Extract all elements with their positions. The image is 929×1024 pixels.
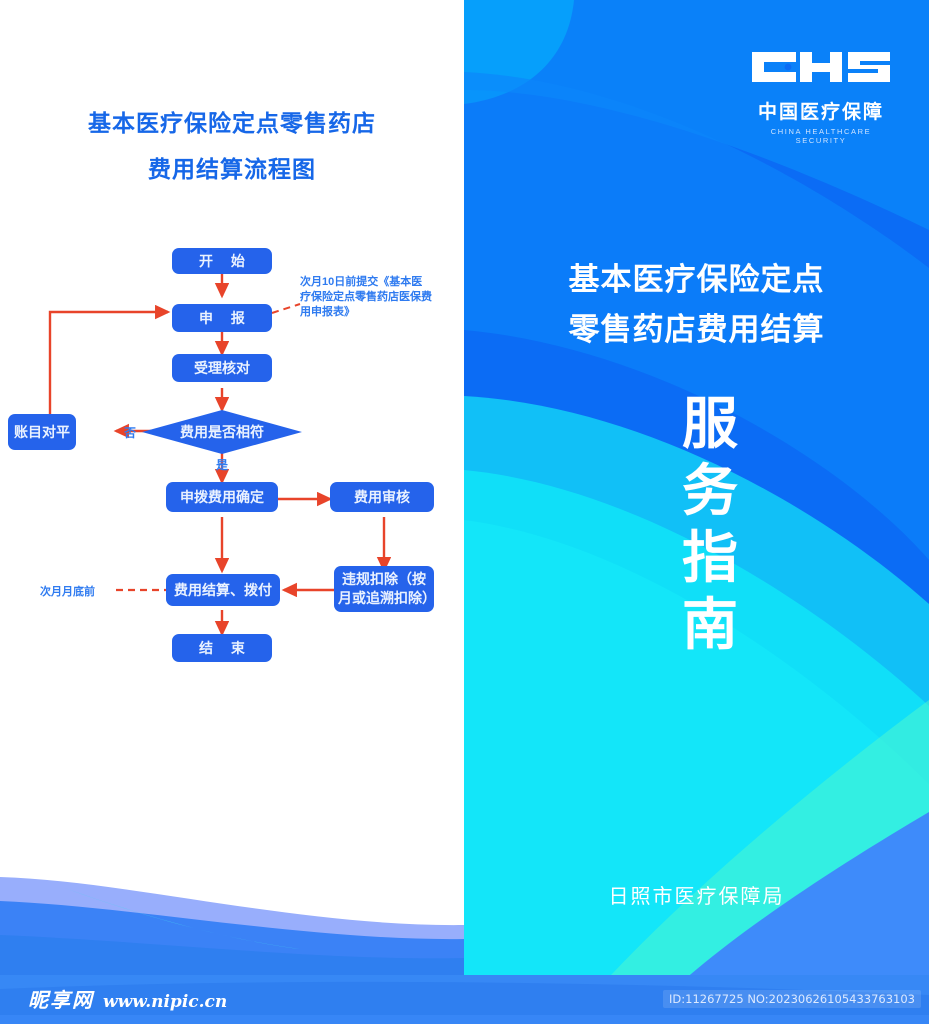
chs-logo-mark [746, 46, 896, 88]
organization-name: 日照市医疗保障局 [464, 880, 929, 909]
flowchart: 开 始 申 报 受理核对 费用是否相符 账目对平 申拨费用确定 费用审核 违规扣… [0, 230, 464, 680]
vertical-char-2: 务 [655, 457, 765, 524]
watermark-url: www.nipic.cn [103, 992, 227, 1012]
flow-node-end[interactable]: 结 束 [172, 634, 272, 662]
watermark-brand: 昵享网 [28, 984, 94, 1013]
chs-logo: 中国医疗保障 CHINA HEALTHCARE SECURITY [746, 46, 896, 145]
panel-headline-line-2: 零售药店费用结算 [464, 305, 929, 355]
flow-node-balance[interactable]: 账目对平 [8, 414, 76, 450]
watermark-bar: 昵享网 www.nipic.cn ID:11267725 NO:20230626… [0, 975, 929, 1024]
flow-node-declare[interactable]: 申 报 [172, 304, 272, 332]
chs-logo-cn: 中国医疗保障 [746, 97, 896, 124]
flowchart-title-line-2: 费用结算流程图 [0, 146, 464, 192]
right-panel: 基本医疗保险定点 零售药店费用结算 服 务 指 南 日照市医疗保障局 [464, 0, 929, 1024]
flow-node-start[interactable]: 开 始 [172, 248, 272, 274]
flow-node-audit[interactable]: 费用审核 [330, 482, 434, 512]
image-id-code: ID:11267725 NO:20230626105433763103 [663, 990, 921, 1008]
flowchart-title: 基本医疗保险定点零售药店 费用结算流程图 [0, 100, 464, 192]
flow-node-accept[interactable]: 受理核对 [172, 354, 272, 382]
left-page: 基本医疗保险定点零售药店 费用结算流程图 [0, 0, 464, 1024]
annotation-settle-note: 次月月底前 [40, 583, 95, 599]
vertical-char-4: 南 [655, 591, 765, 658]
watermark: 昵享网 www.nipic.cn [28, 984, 227, 1013]
poster-canvas: 基本医疗保险定点零售药店 费用结算流程图 [0, 0, 929, 1024]
flow-node-settle[interactable]: 费用结算、拨付 [166, 574, 280, 606]
panel-vertical-title: 服 务 指 南 [655, 390, 765, 658]
branch-label-no: 否 [124, 424, 136, 441]
branch-label-yes: 是 [216, 456, 228, 473]
flowchart-title-line-1: 基本医疗保险定点零售药店 [0, 100, 464, 146]
annotation-declare-note: 次月10日前提交《基本医疗保险定点零售药店医保费用申报表》 [300, 275, 432, 320]
left-page-wave-decoration [0, 815, 464, 975]
flow-node-confirm[interactable]: 申拨费用确定 [166, 482, 278, 512]
chs-logo-en: CHINA HEALTHCARE SECURITY [746, 127, 896, 145]
panel-headline: 基本医疗保险定点 零售药店费用结算 [464, 255, 929, 355]
diamond-shape [142, 410, 302, 454]
vertical-char-1: 服 [655, 390, 765, 457]
panel-headline-line-1: 基本医疗保险定点 [464, 255, 929, 305]
flow-node-deduct[interactable]: 违规扣除（按月或追溯扣除） [334, 566, 434, 612]
flow-node-decision[interactable]: 费用是否相符 [142, 410, 302, 454]
vertical-char-3: 指 [655, 524, 765, 591]
